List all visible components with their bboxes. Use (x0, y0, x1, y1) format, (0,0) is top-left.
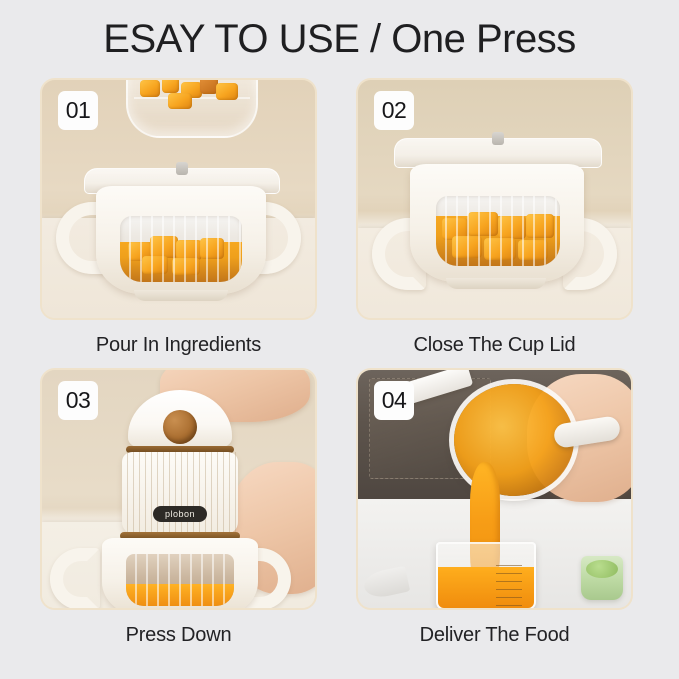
step-card-01[interactable]: 01 Pour In Ingredients (40, 78, 317, 358)
motor-knob[interactable] (163, 410, 197, 444)
step-photo-04: 04 (356, 368, 633, 610)
step-caption-02: Close The Cup Lid (356, 332, 633, 358)
grinder-housing: plobon (122, 452, 238, 534)
cup-base (446, 278, 546, 289)
blending-cup-body (410, 164, 584, 282)
step-card-02[interactable]: 02 Close The Cup Lid (356, 78, 633, 358)
measurement-graduations (496, 558, 522, 606)
cup-rib-texture (120, 216, 242, 282)
cup-rib-texture (126, 554, 234, 606)
steps-grid: 01 Pour In Ingredients (40, 78, 639, 656)
blending-cup-body (96, 186, 266, 294)
brand-label: plobon (153, 506, 207, 522)
step-photo-03: plobon 03 (40, 368, 317, 610)
step-card-03[interactable]: plobon 03 Press Down (40, 368, 317, 648)
step-caption-04: Deliver The Food (356, 622, 633, 648)
cup-base (134, 290, 228, 301)
step-card-04[interactable]: 04 Deliver The Food (356, 368, 633, 648)
measuring-cup (436, 542, 536, 610)
cup-viewing-window (436, 196, 560, 266)
step-photo-01: 01 (40, 78, 317, 320)
page-title: ESAY TO USE / One Press (0, 14, 679, 64)
step-photo-02: 02 (356, 78, 633, 320)
green-container (581, 556, 623, 600)
step-number-badge-02: 02 (374, 91, 414, 130)
step-caption-01: Pour In Ingredients (40, 332, 317, 358)
cup-viewing-window (120, 216, 242, 282)
cup-viewing-window (126, 554, 234, 606)
blending-cup-body (102, 538, 258, 610)
step-number-badge-01: 01 (58, 91, 98, 130)
step-caption-03: Press Down (40, 622, 317, 648)
cup-rib-texture (436, 196, 560, 266)
step-number-badge-04: 04 (374, 381, 414, 420)
mango-chunks-in-pouring-cup (138, 78, 242, 110)
step-number-badge-03: 03 (58, 381, 98, 420)
